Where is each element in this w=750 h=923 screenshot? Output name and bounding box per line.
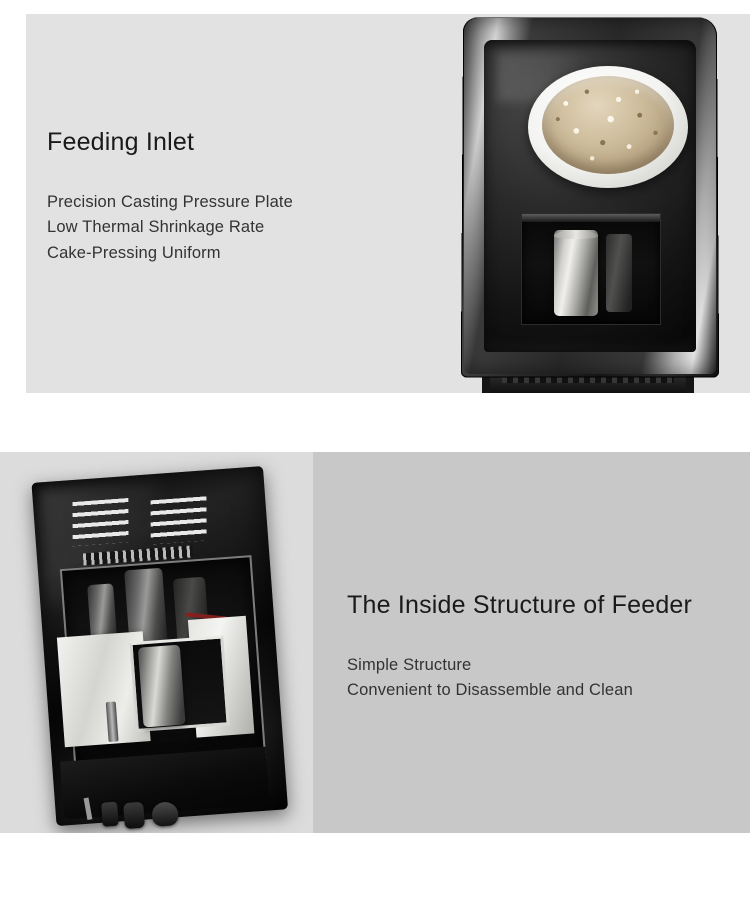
feature-line: Cake-Pressing Uniform <box>47 241 407 267</box>
vent-slots-left <box>73 498 129 546</box>
inside-structure-text-block: The Inside Structure of Feeder Simple St… <box>347 592 737 704</box>
feature-line: Precision Casting Pressure Plate <box>47 190 407 216</box>
control-knob <box>123 802 145 829</box>
inside-structure-panel: The Inside Structure of Feeder Simple St… <box>0 452 750 833</box>
feeding-inlet-panel: Feeding Inlet Precision Casting Pressure… <box>26 14 750 393</box>
inside-structure-feature-list: Simple Structure Convenient to Disassemb… <box>347 653 737 704</box>
chute-roller-cap <box>554 230 598 239</box>
feature-line: Convenient to Disassemble and Clean <box>347 678 737 704</box>
feeding-inlet-text-block: Feeding Inlet Precision Casting Pressure… <box>47 129 407 266</box>
feeding-inlet-title: Feeding Inlet <box>47 129 407 157</box>
chute-secondary-roller <box>606 234 632 312</box>
inside-structure-title: The Inside Structure of Feeder <box>347 592 737 620</box>
chute-lip <box>522 214 660 222</box>
feeding-inlet-feature-list: Precision Casting Pressure Plate Low The… <box>47 190 407 267</box>
feed-chute <box>522 214 660 324</box>
vent-slots-right <box>151 496 207 544</box>
feeding-inlet-photo <box>450 14 750 393</box>
control-knob <box>101 802 119 827</box>
outlet-port <box>151 801 179 827</box>
powder-bowl <box>528 66 688 188</box>
inside-structure-photo <box>17 453 306 833</box>
inside-structure-photo-backdrop <box>0 452 313 833</box>
feature-line: Low Thermal Shrinkage Rate <box>47 215 407 241</box>
powder-heap <box>542 76 674 174</box>
feature-line: Simple Structure <box>347 653 737 679</box>
chute-roller <box>554 230 598 316</box>
main-feed-roller <box>138 645 186 728</box>
